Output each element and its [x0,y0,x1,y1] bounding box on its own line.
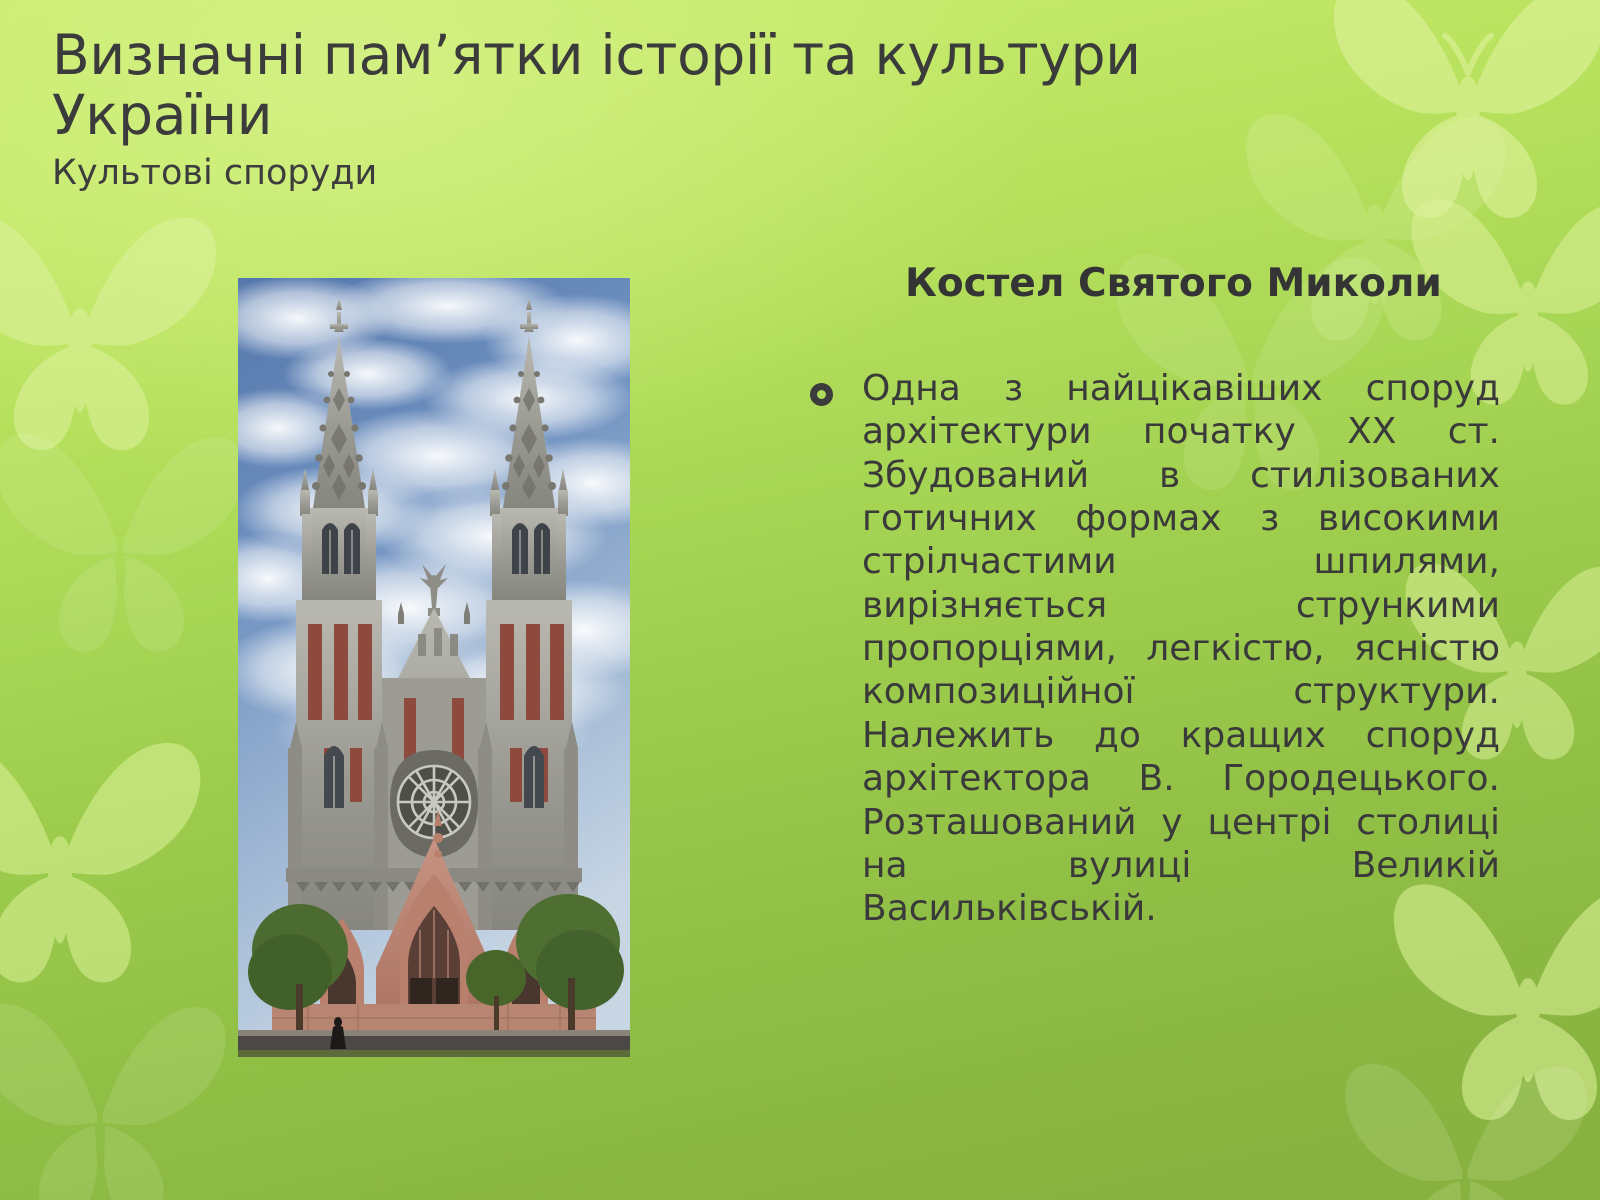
butterfly-decoration-icon [1330,1060,1600,1200]
cathedral-photo [238,278,630,1057]
page-title: Визначні пам’ятки історії та культури Ук… [52,26,1312,146]
list-item-text: Одна з найцікавіших споруд архітектури п… [862,367,1500,931]
list-item: Одна з найцікавіших споруд архітектури п… [810,367,1500,931]
butterfly-decoration-icon [0,210,230,470]
bullet-list: Одна з найцікавіших споруд архітектури п… [810,367,1500,931]
butterfly-decoration-icon [0,1000,240,1200]
content-column: Костел Святого Миколи Одна з найцікавіши… [810,262,1500,931]
content-heading: Костел Святого Миколи [905,262,1500,307]
page-subtitle: Культові споруди [52,154,1312,193]
butterfly-decoration-icon [1318,0,1600,238]
butterfly-decoration-icon [0,430,260,670]
title-block: Визначні пам’ятки історії та культури Ук… [52,26,1312,193]
ring-bullet-icon [810,367,862,406]
slide-canvas: Визначні пам’ятки історії та культури Ук… [0,0,1600,1200]
butterfly-decoration-icon [0,735,215,1003]
